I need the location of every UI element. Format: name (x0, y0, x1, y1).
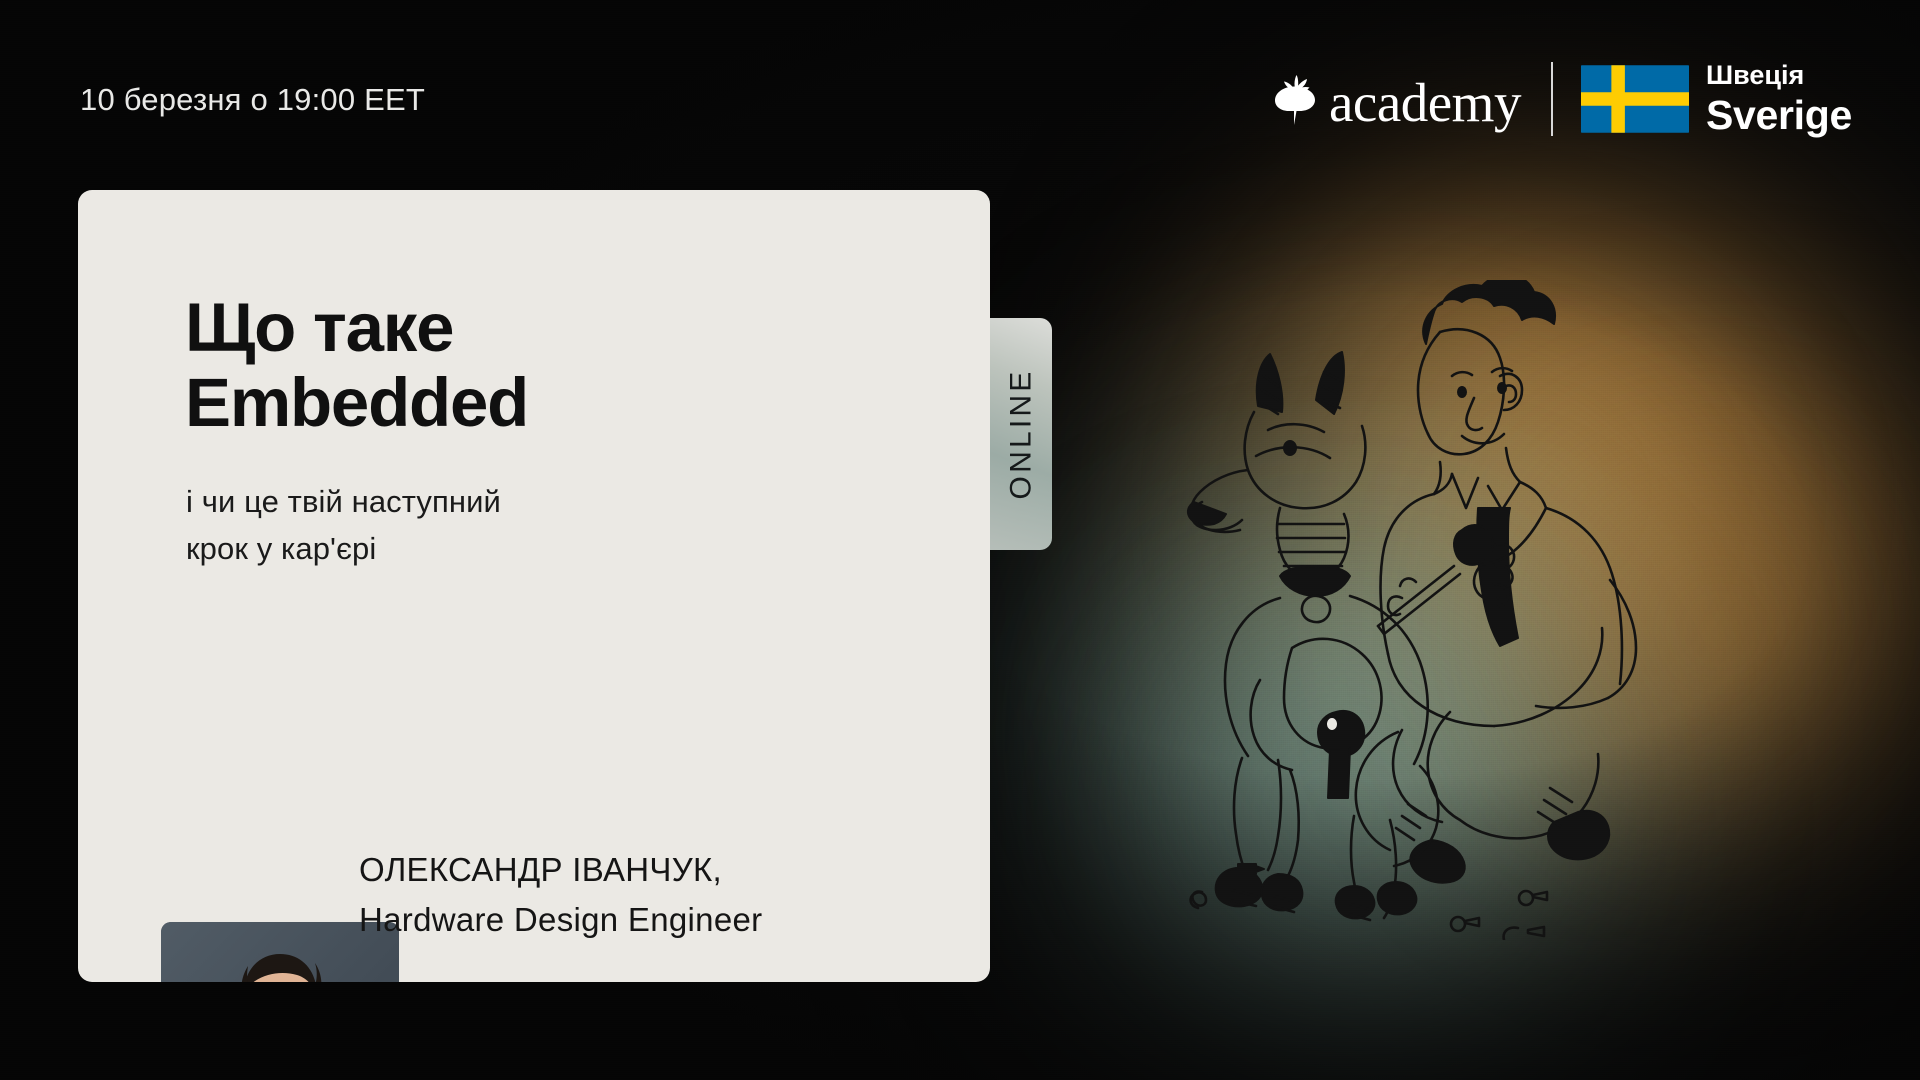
sweden-label-uk: Швеція (1706, 62, 1852, 89)
online-badge: ONLINE (990, 318, 1052, 550)
subtitle-line-1: і чи це твій наступний (186, 484, 501, 519)
subtitle-line-2: крок у кар'єрі (186, 531, 376, 566)
title-line-2: Embedded (185, 364, 528, 441)
title-line-1: Що таке (185, 289, 453, 366)
event-datetime: 10 березня о 19:00 EET (80, 82, 425, 118)
speaker-name: ОЛЕКСАНДР ІВАНЧУК, (359, 845, 959, 895)
beet-icon (1274, 73, 1316, 125)
speaker-role: Hardware Design Engineer (359, 895, 959, 945)
academy-logo[interactable]: academy (1274, 72, 1521, 127)
content-card: Що таке Embedded і чи це твій наступний … (78, 190, 990, 982)
page-subtitle: і чи це твій наступний крок у кар'єрі (186, 478, 806, 572)
academy-wordmark: academy (1329, 75, 1521, 130)
online-badge-label: ONLINE (1004, 369, 1038, 500)
speaker-info: ОЛЕКСАНДР ІВАНЧУК, Hardware Design Engin… (359, 845, 959, 944)
sweden-label-sv: Sverige (1706, 95, 1852, 136)
sweden-logo[interactable]: Швеція Sverige (1581, 62, 1852, 136)
poster-canvas: 10 березня о 19:00 EET academy (0, 0, 1920, 1080)
brand-divider (1551, 62, 1553, 136)
page-title: Що таке Embedded (185, 290, 925, 440)
sweden-flag-icon (1581, 65, 1689, 133)
sweden-labels: Швеція Sverige (1706, 62, 1852, 136)
brand-bar: academy Швеція Sverige (1274, 60, 1852, 138)
